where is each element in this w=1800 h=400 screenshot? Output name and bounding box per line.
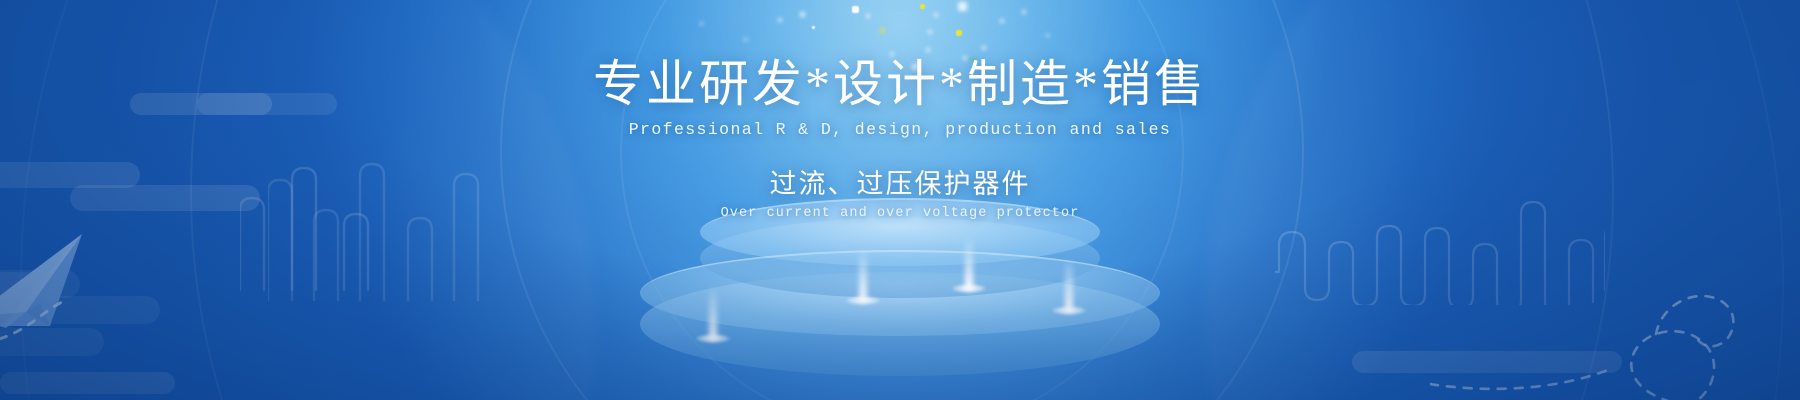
hero-banner: 专业研发*设计*制造*销售 Professional R & D, design…: [0, 0, 1800, 400]
headline-chinese: 专业研发*设计*制造*销售: [0, 56, 1800, 113]
banner-text-block: 专业研发*设计*制造*销售 Professional R & D, design…: [0, 56, 1800, 221]
subhead-english: Over current and over voltage protector: [0, 206, 1800, 221]
subhead-chinese: 过流、过压保护器件: [0, 162, 1800, 201]
headline-english: Professional R & D, design, production a…: [0, 120, 1800, 139]
